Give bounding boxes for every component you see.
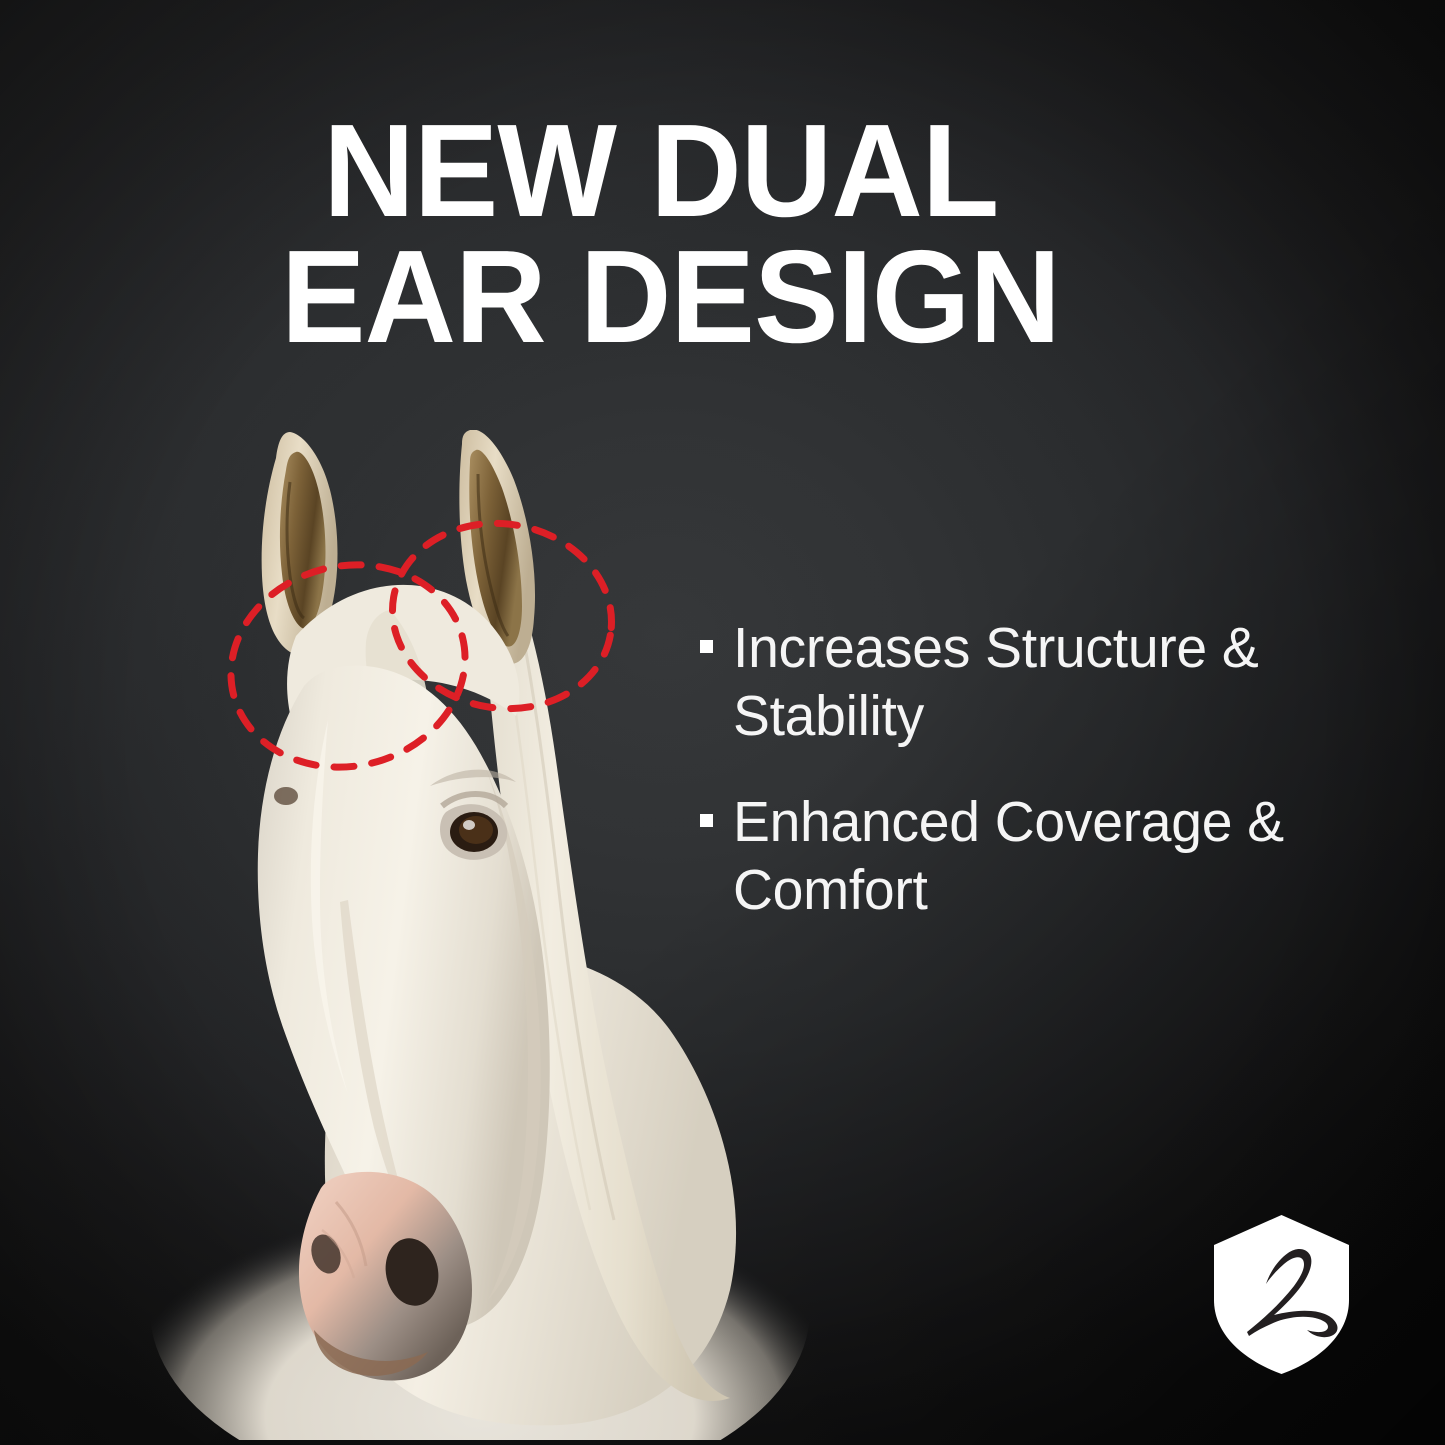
horse-far-eye [274, 787, 298, 805]
feature-text: Increases Structure & Stability [733, 614, 1361, 750]
feature-text: Enhanced Coverage & Comfort [733, 788, 1361, 924]
page-title: NEW DUAL EAR DESIGN [281, 108, 1193, 360]
square-bullet-icon [700, 640, 713, 653]
square-bullet-icon [700, 814, 713, 827]
list-item: Enhanced Coverage & Comfort [700, 788, 1380, 924]
brand-logo [1204, 1212, 1359, 1377]
promo-image: NEW DUAL EAR DESIGN Increases Structure … [0, 0, 1445, 1445]
feature-list: Increases Structure & Stability Enhanced… [700, 614, 1380, 924]
headline-line-2: EAR DESIGN [281, 234, 1193, 360]
list-item: Increases Structure & Stability [700, 614, 1380, 750]
shield-icon [1214, 1215, 1349, 1374]
headline-line-1: NEW DUAL [281, 108, 1193, 234]
horse-image [90, 430, 850, 1440]
